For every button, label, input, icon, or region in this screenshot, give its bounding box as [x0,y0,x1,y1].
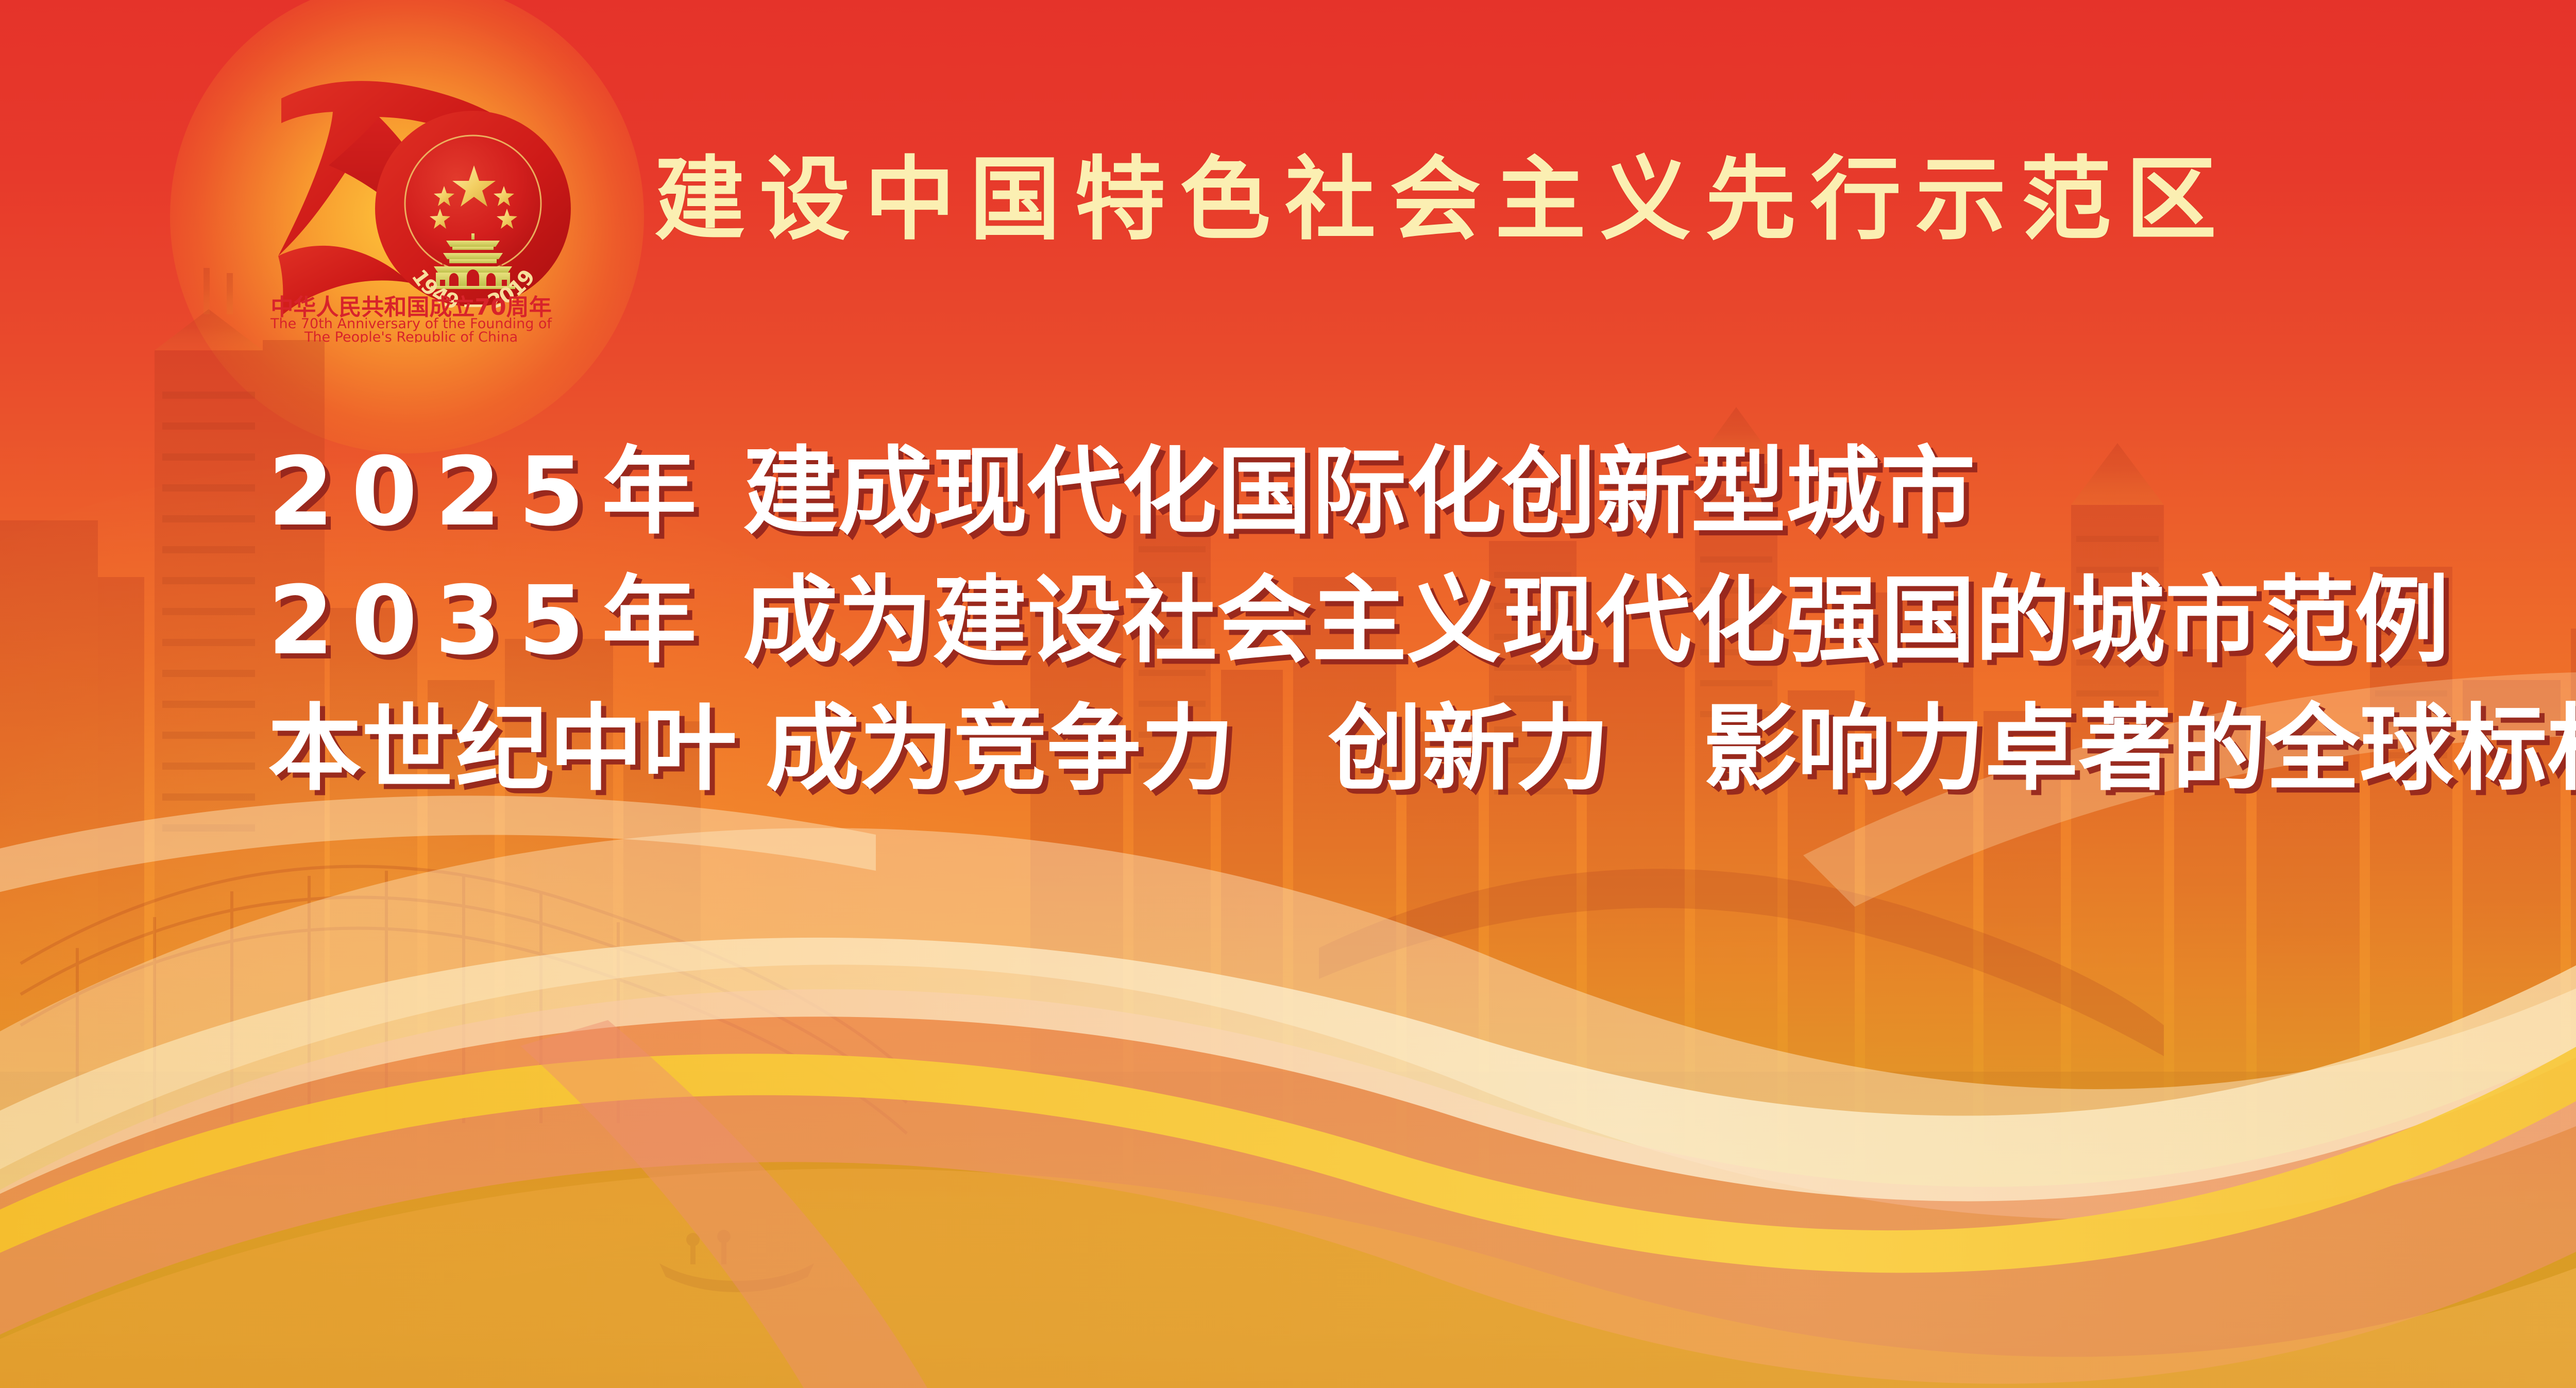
emblem-title-en-line2: The People's Republic of China [304,329,518,343]
goal-text-2025: 建成现代化国际化创新型城市 [743,437,1975,547]
goals-list: 2025年建成现代化国际化创新型城市 2035年成为建设社会主义现代化强国的城市… [268,428,2576,813]
goal-line-2025: 2025年建成现代化国际化创新型城市 [268,428,2576,556]
anniversary-emblem: 1949 — 2019 中华人民共和国成立70周年 The 70th Anniv… [241,54,581,343]
goal-year-midcentury: 本世纪中叶 [268,694,737,803]
poster-canvas: 1949 — 2019 中华人民共和国成立70周年 The 70th Anniv… [0,0,2576,1388]
goal-year-2035: 2035年 [268,566,714,676]
goal-line-midcentury: 本世纪中叶成为竞争力 创新力 影响力卓著的全球标杆城市 [268,685,2576,813]
poster-headline: 建设中国特色社会主义先行示范区 [654,155,2231,245]
goal-year-2025: 2025年 [268,437,714,547]
goal-line-2035: 2035年成为建设社会主义现代化强国的城市范例 [268,556,2576,685]
goal-text-midcentury: 成为竞争力 创新力 影响力卓著的全球标杆城市 [766,694,2576,803]
goal-text-2035: 成为建设社会主义现代化强国的城市范例 [743,566,2449,676]
